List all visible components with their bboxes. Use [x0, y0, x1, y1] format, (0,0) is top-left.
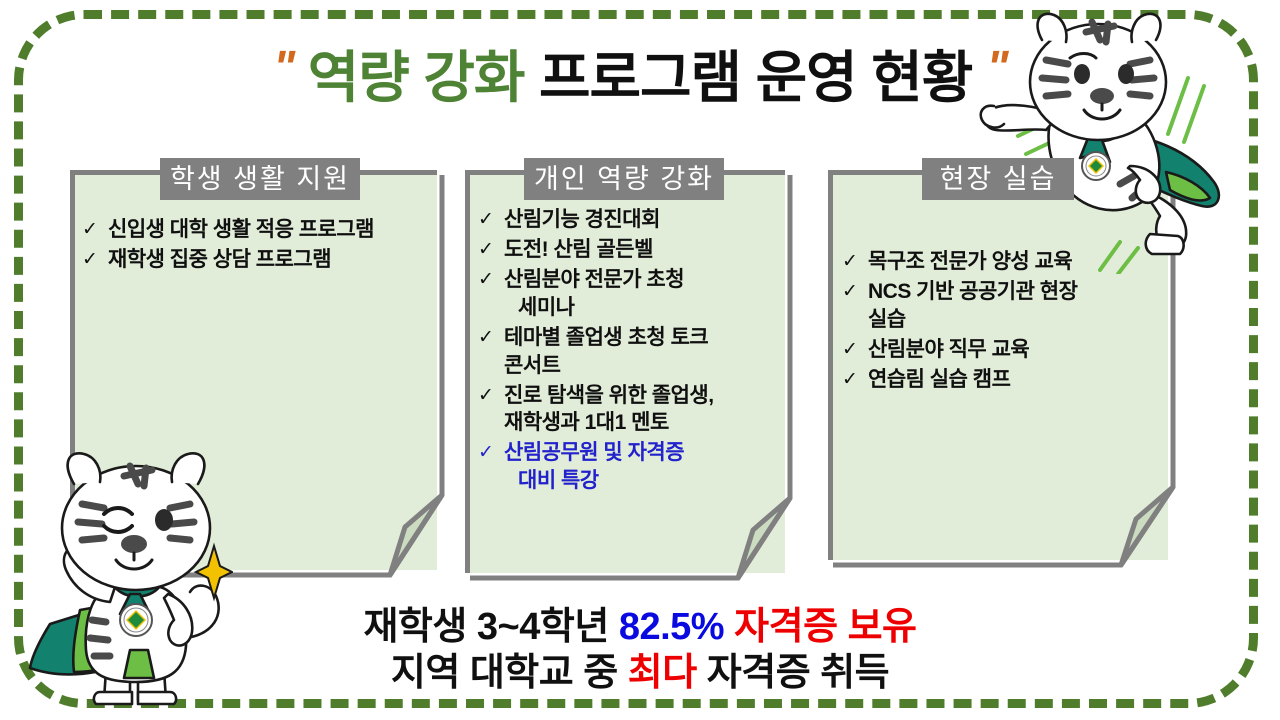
- list-item: ✓ 산림분야 직무 교육: [842, 336, 1162, 364]
- card-body-personal-competency: ✓ 산림기능 경진대회 ✓ 도전! 산림 골든벨 ✓ 산림분야 전문가 초청 세…: [478, 206, 788, 497]
- list-item-label: 재학생 집중 상담 프로그램: [108, 246, 432, 274]
- summary-line1-part2: 자격증 보유: [724, 606, 916, 648]
- list-item: ✓ 목구조 전문가 양성 교육: [842, 248, 1162, 276]
- check-icon: ✓: [478, 439, 504, 467]
- card-header-personal-competency: 개인 역량 강화: [524, 158, 724, 200]
- quote-open-mark: ": [273, 41, 293, 93]
- card-header-label: 현장 실습: [940, 164, 1057, 194]
- list-item: ✓ 재학생 집중 상담 프로그램: [82, 246, 432, 274]
- title-rest: 프로그램 운영 현황: [539, 46, 972, 109]
- list-item-line: 재학생과 1대1 멘토: [504, 409, 788, 437]
- list-item: ✓ 테마별 졸업생 초청 토크 콘서트: [478, 324, 788, 380]
- summary-line2-part1: 지역 대학교 중: [391, 652, 628, 694]
- list-item-line: 세미나: [504, 294, 788, 322]
- list-item: ✓ 진로 탐색을 위한 졸업생, 재학생과 1대1 멘토: [478, 382, 788, 438]
- check-icon: ✓: [842, 336, 868, 364]
- list-item-label: 신입생 대학 생활 적응 프로그램: [108, 216, 432, 244]
- check-icon: ✓: [82, 216, 108, 244]
- list-item-label: 산림분야 직무 교육: [868, 336, 1162, 364]
- card-header-label: 개인 역량 강화: [534, 164, 714, 194]
- card-header-field-practice: 현장 실습: [922, 158, 1074, 200]
- check-icon: ✓: [842, 366, 868, 394]
- slide-root: " 역량 강화 프로그램 운영 현황 " 학생 생활 지원 ✓ 신입생 대학 생…: [0, 0, 1280, 720]
- check-icon: ✓: [842, 278, 868, 306]
- list-item-label: 연습림 실습 캠프: [868, 366, 1162, 394]
- card-header-label: 학생 생활 지원: [170, 164, 350, 194]
- list-item-line: 산림공무원 및 자격증: [504, 439, 788, 467]
- check-icon: ✓: [842, 248, 868, 276]
- list-item-highlighted: ✓ 산림공무원 및 자격증 대비 특강: [478, 439, 788, 495]
- list-item-line: 진로 탐색을 위한 졸업생,: [504, 382, 788, 410]
- summary-stat-percentage: 82.5%: [619, 606, 724, 648]
- list-item-label: NCS 기반 공공기관 현장 실습: [868, 278, 1162, 334]
- list-item-label: 테마별 졸업생 초청 토크 콘서트: [504, 324, 788, 380]
- list-item: ✓ 신입생 대학 생활 적응 프로그램: [82, 216, 432, 244]
- list-item-line: 실습: [868, 306, 1162, 334]
- list-item: ✓ 산림기능 경진대회: [478, 206, 788, 234]
- list-item: ✓ NCS 기반 공공기관 현장 실습: [842, 278, 1162, 334]
- list-item-line: 대비 특강: [504, 467, 788, 495]
- list-item: ✓ 산림분야 전문가 초청 세미나: [478, 266, 788, 322]
- summary-emphasis: 최다: [628, 652, 697, 694]
- check-icon: ✓: [478, 324, 504, 352]
- list-item-label: 도전! 산림 골든벨: [504, 236, 788, 264]
- check-icon: ✓: [82, 246, 108, 274]
- tiger-mascot-pointing: [18, 424, 233, 716]
- summary-line1-part1: 재학생 3~4학년: [363, 606, 618, 648]
- list-item-label: 산림기능 경진대회: [504, 206, 788, 234]
- list-item-label: 목구조 전문가 양성 교육: [868, 248, 1162, 276]
- check-icon: ✓: [478, 382, 504, 410]
- list-item-line: NCS 기반 공공기관 현장: [868, 278, 1162, 306]
- summary-line2-part2: 자격증 취득: [697, 652, 889, 694]
- list-item: ✓ 연습림 실습 캠프: [842, 366, 1162, 394]
- card-body-student-life: ✓ 신입생 대학 생활 적응 프로그램 ✓ 재학생 집중 상담 프로그램: [82, 216, 432, 276]
- list-item-label: 산림공무원 및 자격증 대비 특강: [504, 439, 788, 495]
- check-icon: ✓: [478, 236, 504, 264]
- list-item-label: 산림분야 전문가 초청 세미나: [504, 266, 788, 322]
- list-item-line: 테마별 졸업생 초청 토크: [504, 324, 788, 352]
- list-item-line: 콘서트: [504, 352, 788, 380]
- check-icon: ✓: [478, 206, 504, 234]
- card-body-field-practice: ✓ 목구조 전문가 양성 교육 ✓ NCS 기반 공공기관 현장 실습 ✓ 산림…: [842, 248, 1162, 396]
- check-icon: ✓: [478, 266, 504, 294]
- tiger-mascot-flying: [952, 6, 1262, 274]
- list-item-line: 산림분야 전문가 초청: [504, 266, 788, 294]
- list-item: ✓ 도전! 산림 골든벨: [478, 236, 788, 264]
- card-header-student-life: 학생 생활 지원: [160, 158, 360, 200]
- title-highlight: 역량 강화: [308, 46, 525, 109]
- list-item-label: 진로 탐색을 위한 졸업생, 재학생과 1대1 멘토: [504, 382, 788, 438]
